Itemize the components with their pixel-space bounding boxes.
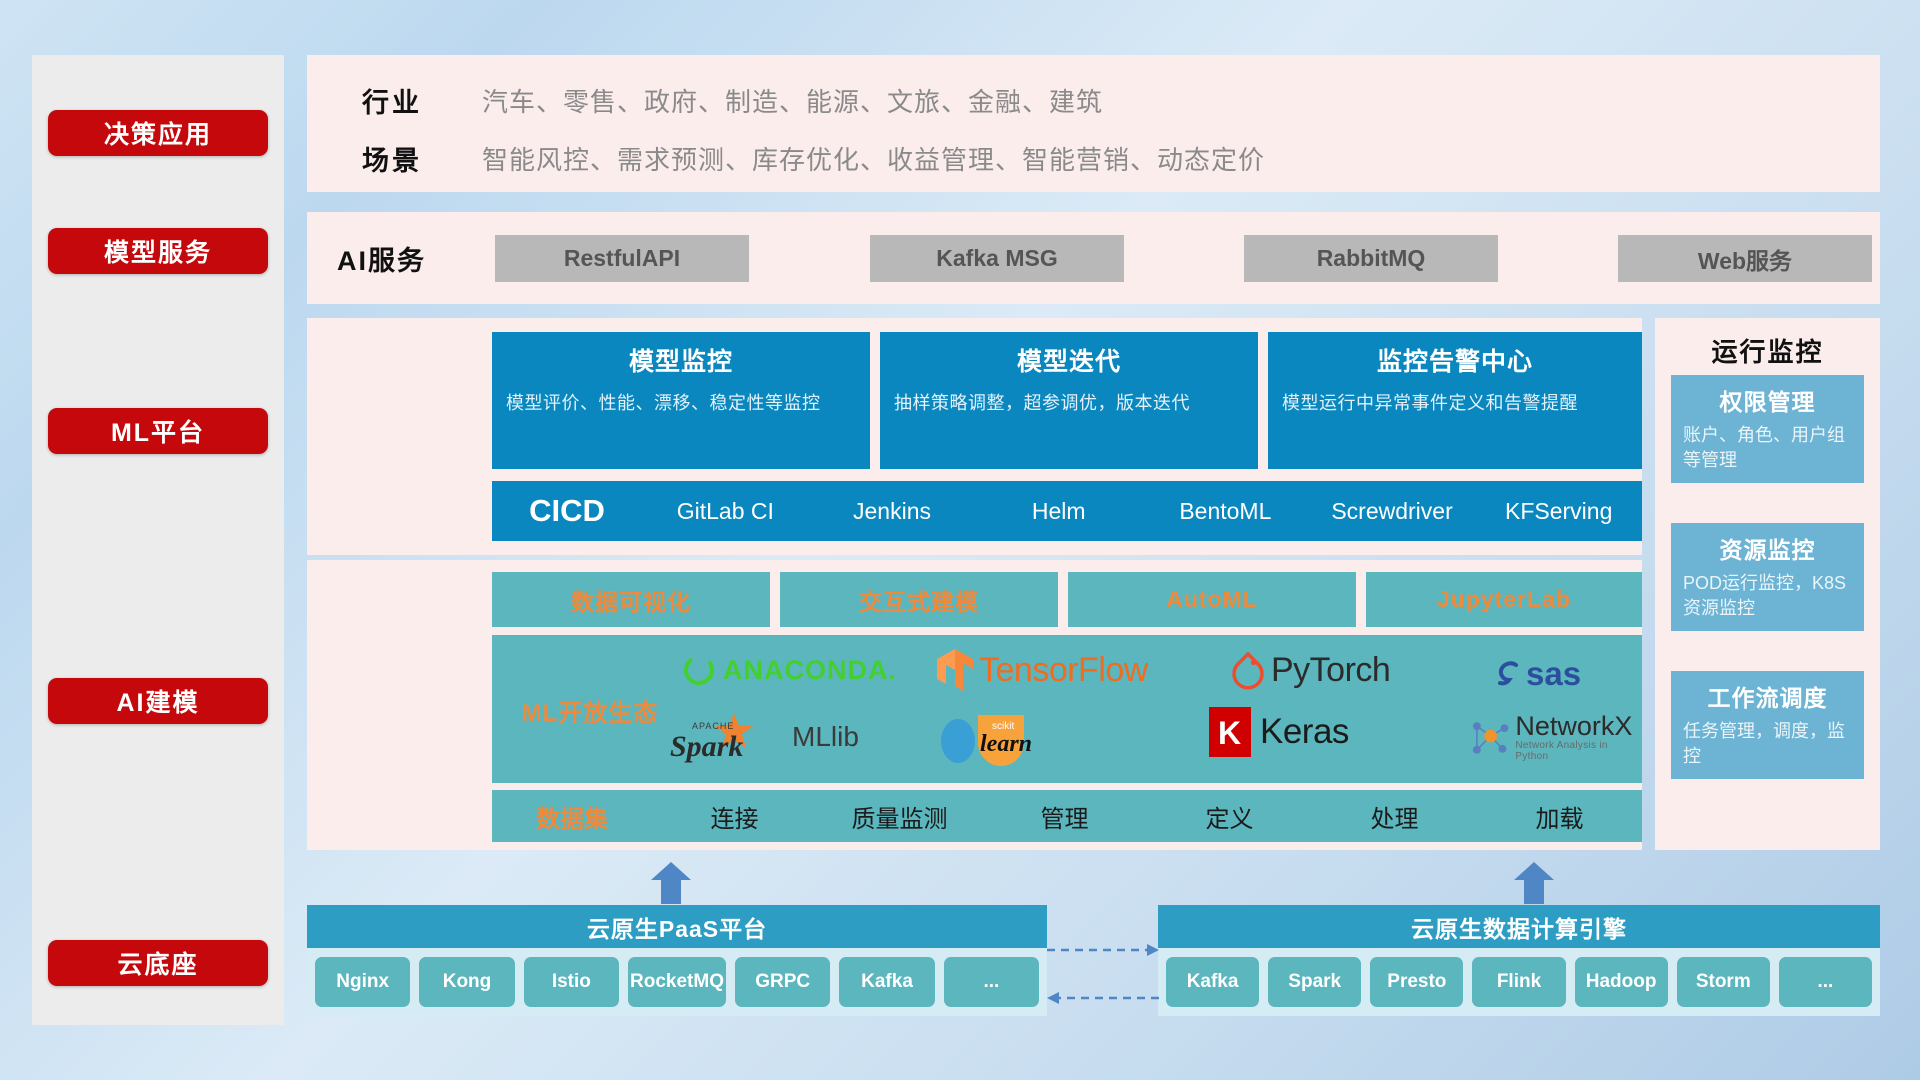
compute-chip-flink[interactable]: Flink: [1472, 957, 1565, 1007]
run-monitor-title: 运行监控: [1655, 332, 1880, 369]
monitor-card-resource[interactable]: 资源监控 POD运行监控，K8S资源监控: [1671, 523, 1864, 631]
arrow-up-paas-icon: [651, 862, 691, 904]
ai-chip-kafka-msg[interactable]: Kafka MSG: [870, 235, 1124, 282]
anaconda-logo-text: ANACONDA.: [723, 655, 897, 686]
monitor-card-desc: POD运行监控，K8S资源监控: [1683, 571, 1852, 621]
ml-lab-band: 神州数码 ML LAB 数据可视化 交互式建模 AutoML JupyterLa…: [307, 560, 1642, 850]
keras-logo-text: Keras: [1260, 712, 1349, 752]
svg-text:Spark: Spark: [670, 730, 743, 763]
cicd-item-helm[interactable]: Helm: [975, 499, 1142, 523]
ai-service-band: AI服务 RestfulAPI Kafka MSG RabbitMQ Web服务: [307, 212, 1880, 304]
mlops-card-desc: 模型运行中异常事件定义和告警提醒: [1282, 390, 1628, 416]
cicd-item-screwdriver[interactable]: Screwdriver: [1309, 499, 1476, 523]
mlops-card-model-monitoring[interactable]: 模型监控 模型评价、性能、漂移、稳定性等监控: [492, 332, 870, 469]
compute-engine-group: 云原生数据计算引擎 Kafka Spark Presto Flink Hadoo…: [1158, 905, 1880, 1016]
compute-engine-title: 云原生数据计算引擎: [1158, 905, 1880, 948]
paas-chip-grpc[interactable]: GRPC: [735, 957, 830, 1007]
stage-pill-ai-modeling[interactable]: AI建模: [48, 678, 268, 724]
scenario-row: 场景 智能风控、需求预测、库存优化、收益管理、智能营销、动态定价: [362, 131, 1265, 185]
dataset-item-connect[interactable]: 连接: [652, 799, 817, 834]
stage-rail: [32, 55, 284, 1025]
dataset-item-load[interactable]: 加载: [1477, 799, 1642, 834]
ai-chip-web-service[interactable]: Web服务: [1618, 235, 1872, 282]
lab-chip-interactive-modeling[interactable]: 交互式建模: [780, 572, 1058, 627]
industry-key: 行业: [362, 81, 482, 120]
cicd-bar: CICD GitLab CI Jenkins Helm BentoML Scre…: [492, 481, 1642, 541]
cicd-item-bentoml[interactable]: BentoML: [1142, 499, 1309, 523]
svg-text:K: K: [1218, 715, 1241, 751]
mlops-card-title: 监控告警中心: [1282, 342, 1628, 378]
compute-chip-hadoop[interactable]: Hadoop: [1575, 957, 1668, 1007]
compute-chip-presto[interactable]: Presto: [1370, 957, 1463, 1007]
monitor-card-title: 工作流调度: [1683, 679, 1852, 713]
mlops-card-model-iteration[interactable]: 模型迭代 抽样策略调整，超参调优，版本迭代: [880, 332, 1258, 469]
dataset-item-quality-monitoring[interactable]: 质量监测: [817, 799, 982, 834]
industry-row: 行业 汽车、零售、政府、制造、能源、文旅、金融、建筑: [362, 73, 1103, 127]
lab-chip-jupyterlab[interactable]: JupyterLab: [1366, 572, 1642, 627]
ai-chip-rabbitmq[interactable]: RabbitMQ: [1244, 235, 1498, 282]
stage-pill-decision-app[interactable]: 决策应用: [48, 110, 268, 156]
paas-chip-row: Nginx Kong Istio RocketMQ GRPC Kafka ...: [307, 948, 1047, 1016]
networkx-logo-text: NetworkX: [1515, 713, 1642, 740]
paas-chip-more[interactable]: ...: [944, 957, 1039, 1007]
monitor-card-title: 权限管理: [1683, 383, 1852, 417]
dataset-item-define[interactable]: 定义: [1147, 799, 1312, 834]
dataset-title: 数据集: [492, 799, 652, 834]
stage-pill-model-service[interactable]: 模型服务: [48, 228, 268, 274]
lab-chip-automl[interactable]: AutoML: [1068, 572, 1356, 627]
ml-ecosystem-box: ML开放生态 ANACONDA. TensorFlow: [492, 635, 1642, 783]
pytorch-logo-text: PyTorch: [1271, 651, 1390, 690]
paas-chip-istio[interactable]: Istio: [524, 957, 619, 1007]
monitor-card-workflow[interactable]: 工作流调度 任务管理，调度，监控: [1671, 671, 1864, 779]
networkx-logo: NetworkX Network Analysis in Python: [1467, 713, 1642, 762]
ai-service-label: AI服务: [337, 212, 467, 304]
ml-ecosystem-label: ML开放生态: [510, 693, 670, 728]
keras-logo: K Keras: [1209, 707, 1349, 757]
mlops-card-title: 模型监控: [506, 342, 856, 378]
compute-chip-storm[interactable]: Storm: [1677, 957, 1770, 1007]
run-monitor-panel: 运行监控 权限管理 账户、角色、用户组等管理 资源监控 POD运行监控，K8S资…: [1655, 318, 1880, 850]
tensorflow-logo: TensorFlow: [937, 649, 1148, 691]
sas-logo: sas: [1492, 655, 1581, 693]
industry-value: 汽车、零售、政府、制造、能源、文旅、金融、建筑: [482, 82, 1103, 119]
compute-chip-kafka[interactable]: Kafka: [1166, 957, 1259, 1007]
lab-chip-data-visualization[interactable]: 数据可视化: [492, 572, 770, 627]
paas-title: 云原生PaaS平台: [307, 905, 1047, 948]
scikit-learn-logo: scikit learn: [932, 711, 1072, 767]
dataset-item-manage[interactable]: 管理: [982, 799, 1147, 834]
compute-chip-row: Kafka Spark Presto Flink Hadoop Storm ..…: [1158, 948, 1880, 1016]
mlops-card-title: 模型迭代: [894, 342, 1244, 378]
tensorflow-logo-text: TensorFlow: [979, 651, 1148, 690]
spark-mllib-logo: APACHE Spark MLlib: [668, 711, 859, 763]
sas-logo-text: sas: [1526, 655, 1581, 693]
networkx-logo-tagline: Network Analysis in Python: [1515, 740, 1642, 762]
paas-chip-kong[interactable]: Kong: [419, 957, 514, 1007]
mlops-card-alert-center[interactable]: 监控告警中心 模型运行中异常事件定义和告警提醒: [1268, 332, 1642, 469]
paas-chip-rocketmq[interactable]: RocketMQ: [628, 957, 726, 1007]
mlops-band: MLOps 模型监控 模型评价、性能、漂移、稳定性等监控 模型迭代 抽样策略调整…: [307, 318, 1642, 555]
monitor-card-permission[interactable]: 权限管理 账户、角色、用户组等管理: [1671, 375, 1864, 483]
pytorch-logo: PyTorch: [1232, 651, 1390, 690]
mlops-card-desc: 抽样策略调整，超参调优，版本迭代: [894, 390, 1244, 416]
cicd-title: CICD: [492, 493, 642, 529]
mllib-logo-text: MLlib: [792, 721, 859, 753]
anaconda-logo: ANACONDA.: [682, 653, 897, 687]
cicd-item-gitlab-ci[interactable]: GitLab CI: [642, 499, 809, 523]
mlops-card-desc: 模型评价、性能、漂移、稳定性等监控: [506, 390, 856, 416]
arrow-up-compute-icon: [1514, 862, 1554, 904]
architecture-diagram: 决策应用 模型服务 ML平台 AI建模 云底座 行业 汽车、零售、政府、制造、能…: [0, 0, 1920, 1080]
monitor-card-desc: 任务管理，调度，监控: [1683, 719, 1852, 769]
industry-scenario-band: 行业 汽车、零售、政府、制造、能源、文旅、金融、建筑 场景 智能风控、需求预测、…: [307, 55, 1880, 192]
stage-pill-cloud-base[interactable]: 云底座: [48, 940, 268, 986]
scenario-key: 场景: [362, 139, 482, 178]
svg-text:learn: learn: [980, 731, 1032, 757]
paas-chip-kafka[interactable]: Kafka: [839, 957, 934, 1007]
monitor-card-desc: 账户、角色、用户组等管理: [1683, 423, 1852, 473]
compute-chip-more[interactable]: ...: [1779, 957, 1872, 1007]
paas-group: 云原生PaaS平台 Nginx Kong Istio RocketMQ GRPC…: [307, 905, 1047, 1016]
compute-chip-spark[interactable]: Spark: [1268, 957, 1361, 1007]
paas-chip-nginx[interactable]: Nginx: [315, 957, 410, 1007]
dataset-bar: 数据集 连接 质量监测 管理 定义 处理 加载: [492, 790, 1642, 842]
ai-chip-restfulapi[interactable]: RestfulAPI: [495, 235, 749, 282]
cicd-item-kfserving[interactable]: KFServing: [1475, 499, 1642, 523]
dashed-connector-right-icon: [1047, 938, 1159, 1010]
monitor-card-title: 资源监控: [1683, 531, 1852, 565]
scenario-value: 智能风控、需求预测、库存优化、收益管理、智能营销、动态定价: [482, 140, 1265, 177]
stage-pill-ml-platform[interactable]: ML平台: [48, 408, 268, 454]
dataset-item-process[interactable]: 处理: [1312, 799, 1477, 834]
cicd-item-jenkins[interactable]: Jenkins: [809, 499, 976, 523]
